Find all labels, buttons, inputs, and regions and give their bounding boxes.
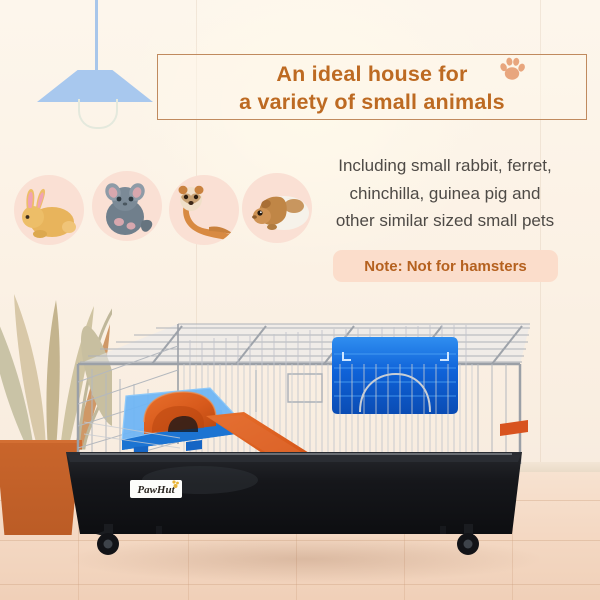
description-line-3: other similar sized small pets <box>300 207 590 235</box>
note-badge-label: Note: Not for hamsters <box>364 258 527 275</box>
paw-print-icon <box>497 55 527 83</box>
animal-icon-row <box>14 171 294 249</box>
base-tray <box>66 452 522 534</box>
headline-line-2: a variety of small animals <box>239 88 505 116</box>
cage-graphic: PawHut <box>66 324 530 555</box>
hay-feeder <box>332 337 458 414</box>
animal-chip-rabbit <box>14 175 84 245</box>
promo-image: An ideal house for a variety of small an… <box>0 0 600 600</box>
description-line-1: Including small rabbit, ferret, <box>300 152 590 180</box>
description-text: Including small rabbit, ferret, chinchil… <box>300 152 590 235</box>
headline-line-1: An ideal house for <box>276 60 467 88</box>
rabbit-icon <box>14 175 84 245</box>
brand-logo-text: PawHut <box>137 484 175 496</box>
ferret-icon <box>169 175 239 245</box>
animal-chip-guinea-pig <box>242 173 312 243</box>
guinea-pig-icon <box>242 173 312 243</box>
description-line-2: chinchilla, guinea pig and <box>300 180 590 208</box>
note-badge: Note: Not for hamsters <box>333 250 558 282</box>
lamp-cord <box>95 0 98 72</box>
animal-chip-chinchilla <box>92 171 162 241</box>
chinchilla-icon <box>92 171 162 241</box>
floor-tile-line <box>0 584 600 585</box>
product-cage: PawHut <box>60 312 560 582</box>
animal-chip-ferret <box>169 175 239 245</box>
